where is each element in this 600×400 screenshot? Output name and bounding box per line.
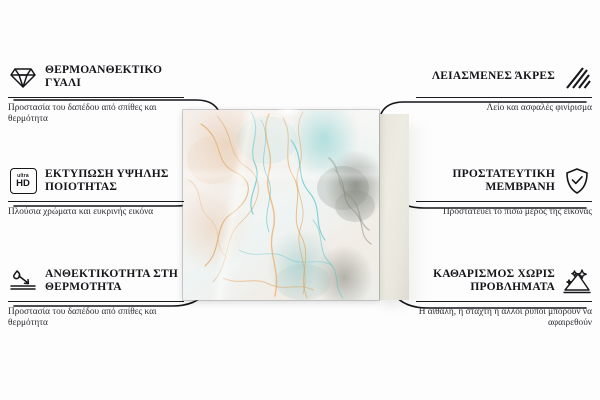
smooth-edges-icon (562, 62, 592, 92)
feature-title: ΠΡΟΣΤΑΤΕΥΤΙΚΗ ΜΕΜΒΡΑΝΗ (416, 168, 555, 195)
feature-description: Λείο και ασφαλές φινίρισμα (416, 103, 592, 114)
feature-title: ΚΑΘΑΡΙΣΜΟΣ ΧΩΡΙΣ ΠΡΟΒΛΗΜΑΤΑ (416, 268, 555, 295)
feature-title: ΑΝΘΕΚΤΙΚΟΤΗΤΑ ΣΤΗ ΘΕΡΜΟΤΗΤΑ (45, 268, 184, 295)
feature-high-quality-print: ultra HD ΕΚΤΥΠΩΣΗ ΥΨΗΛΗΣ ΠΟΙΟΤΗΤΑΣ Πλούσ… (8, 166, 184, 218)
heat-resistance-icon (8, 266, 38, 296)
feature-description: Πλούσια χρώματα και ευκρινής εικόνα (8, 207, 184, 218)
infographic-stage: ΘΕΡΜΟΑΝΘΕΚΤΙΚΟ ΓΥΑΛΙ Προστασία του δαπέδ… (0, 0, 600, 400)
ultra-hd-label-main: HD (16, 179, 30, 189)
feature-description: Η αιθάλη, η στάχτη ή άλλοι ρύποι μπορούν… (416, 307, 592, 330)
feature-easy-cleaning: ΚΑΘΑΡΙΣΜΟΣ ΧΩΡΙΣ ΠΡΟΒΛΗΜΑΤΑ Η αιθάλη, η … (416, 266, 592, 330)
feature-heat-durability: ΑΝΘΕΚΤΙΚΟΤΗΤΑ ΣΤΗ ΘΕΡΜΟΤΗΤΑ Προστασία το… (8, 266, 184, 330)
feature-header: ultra HD ΕΚΤΥΠΩΣΗ ΥΨΗΛΗΣ ΠΟΙΟΤΗΤΑΣ (8, 166, 184, 196)
sparkle-clean-icon (562, 266, 592, 296)
feature-divider (416, 301, 592, 302)
feature-header: ΠΡΟΣΤΑΤΕΥΤΙΚΗ ΜΕΜΒΡΑΝΗ (416, 166, 592, 196)
feature-header: ΑΝΘΕΚΤΙΚΟΤΗΤΑ ΣΤΗ ΘΕΡΜΟΤΗΤΑ (8, 266, 184, 296)
ultra-hd-icon: ultra HD (8, 166, 38, 196)
feature-description: Προστασία του δαπέδου από σπίθες και θερ… (8, 307, 184, 330)
feature-divider (8, 301, 184, 302)
feature-divider (8, 201, 184, 202)
feature-title: ΕΚΤΥΠΩΣΗ ΥΨΗΛΗΣ ΠΟΙΟΤΗΤΑΣ (45, 168, 184, 195)
feature-protective-membrane: ΠΡΟΣΤΑΤΕΥΤΙΚΗ ΜΕΜΒΡΑΝΗ Προστατεύει το πί… (416, 166, 592, 218)
feature-smooth-edges: ΛΕΙΑΣΜΕΝΕΣ ΆΚΡΕΣ Λείο και ασφαλές φινίρι… (416, 62, 592, 114)
marble-veins (183, 110, 379, 300)
feature-divider (8, 97, 184, 98)
feature-heat-resistant-glass: ΘΕΡΜΟΑΝΘΕΚΤΙΚΟ ΓΥΑΛΙ Προστασία του δαπέδ… (8, 62, 184, 126)
feature-divider (416, 201, 592, 202)
feature-header: ΚΑΘΑΡΙΣΜΟΣ ΧΩΡΙΣ ΠΡΟΒΛΗΜΑΤΑ (416, 266, 592, 296)
feature-divider (416, 97, 592, 98)
feature-header: ΘΕΡΜΟΑΝΘΕΚΤΙΚΟ ΓΥΑΛΙ (8, 62, 184, 92)
shield-check-icon (562, 166, 592, 196)
feature-title: ΛΕΙΑΣΜΕΝΕΣ ΆΚΡΕΣ (432, 70, 555, 84)
glass-specular-highlight (275, 107, 301, 116)
product-image (183, 110, 403, 300)
diamond-icon (8, 62, 38, 92)
feature-title: ΘΕΡΜΟΑΝΘΕΚΤΙΚΟ ΓΥΑΛΙ (45, 64, 184, 91)
panel-side-edge (379, 114, 409, 300)
feature-description: Προστασία του δαπέδου από σπίθες και θερ… (8, 103, 184, 126)
feature-header: ΛΕΙΑΣΜΕΝΕΣ ΆΚΡΕΣ (416, 62, 592, 92)
glass-print-surface (183, 110, 379, 300)
feature-description: Προστατεύει το πίσω μέρος της εικόνας (416, 207, 592, 218)
